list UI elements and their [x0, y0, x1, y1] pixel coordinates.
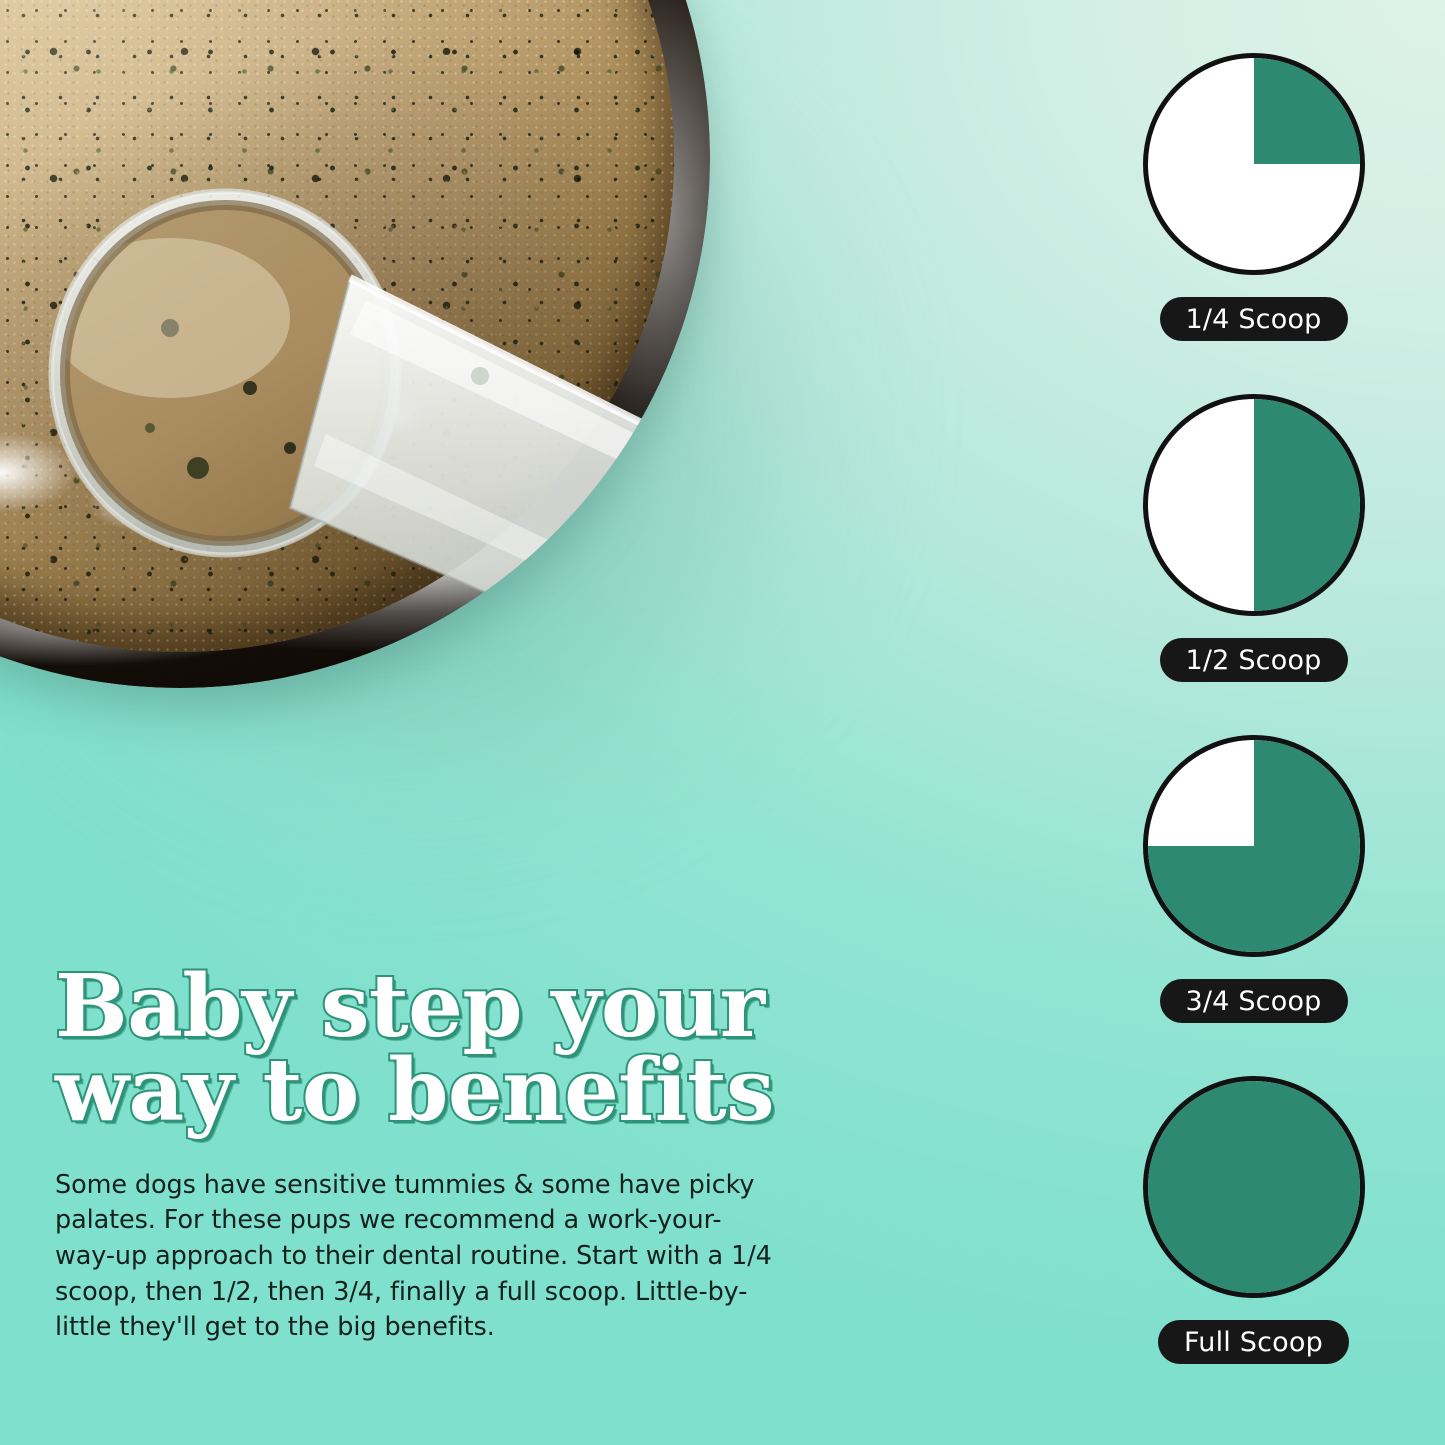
- pie-chart-three-quarter: [1143, 735, 1365, 957]
- scoop-step-three-quarter: 3/4 Scoop: [1062, 735, 1445, 1023]
- headline: Baby step your way to benefits: [55, 965, 815, 1134]
- body-paragraph: Some dogs have sensitive tummies & some …: [55, 1168, 775, 1346]
- pie-chart-half: [1143, 394, 1365, 616]
- pie-chart-quarter: [1143, 53, 1365, 275]
- pie-fill-quarter: [1146, 56, 1362, 272]
- scoop-label-three-quarter: 3/4 Scoop: [1160, 979, 1348, 1023]
- product-photo-jar: [0, 0, 710, 688]
- scoop-step-full: Full Scoop: [1062, 1076, 1445, 1364]
- scoop-label-quarter: 1/4 Scoop: [1160, 297, 1348, 341]
- pie-fill-three-quarter: [1146, 738, 1362, 954]
- scoop-step-quarter: 1/4 Scoop: [1062, 53, 1445, 341]
- infographic-canvas: 1/4 Scoop 1/2 Scoop 3/4 Scoop: [0, 0, 1445, 1445]
- scoop-step-half: 1/2 Scoop: [1062, 394, 1445, 682]
- pie-chart-full: [1143, 1076, 1365, 1298]
- scoop-label-half: 1/2 Scoop: [1160, 638, 1348, 682]
- copy-block: Baby step your way to benefits Some dogs…: [55, 965, 815, 1346]
- pie-fill-half: [1146, 397, 1362, 613]
- pie-fill-full: [1146, 1079, 1362, 1295]
- scoop-label-full: Full Scoop: [1158, 1320, 1349, 1364]
- dental-powder-surface: [0, 0, 674, 652]
- scoop-dial-column: 1/4 Scoop 1/2 Scoop 3/4 Scoop: [1062, 0, 1445, 1445]
